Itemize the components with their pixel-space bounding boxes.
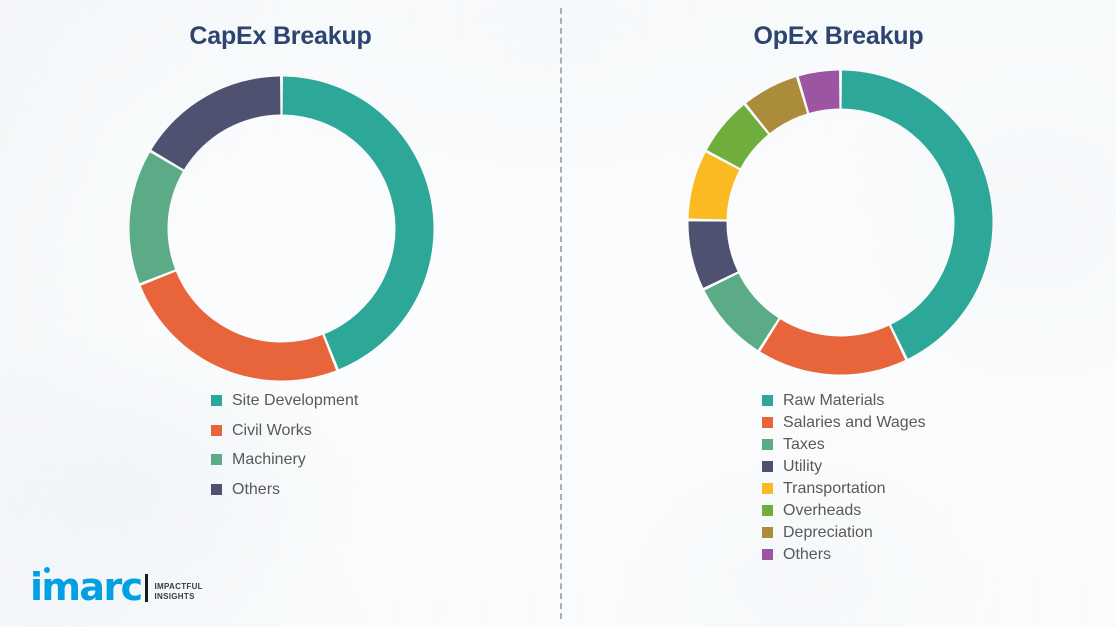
capex-slice-others[interactable]: [151, 77, 280, 170]
legend-item-label: Overheads: [783, 502, 861, 519]
legend-item-salaries-and-wages[interactable]: Salaries and Wages: [762, 414, 926, 431]
opex-panel: OpEx Breakup Raw Materials Salaries and …: [561, 0, 1116, 627]
legend-swatch-icon: [762, 527, 773, 538]
legend-item-civil-works[interactable]: Civil Works: [211, 422, 358, 439]
legend-item-others[interactable]: Others: [211, 481, 358, 498]
opex-slice-taxes[interactable]: [705, 274, 779, 351]
capex-title: CapEx Breakup: [0, 22, 561, 51]
legend-item-utility[interactable]: Utility: [762, 458, 926, 475]
slide-root: CapEx Breakup Site Development Civil Wor…: [0, 0, 1116, 627]
capex-donut-chart: [129, 76, 434, 381]
capex-slice-group: [130, 77, 434, 381]
logo-tagline-line1: IMPACTFUL: [155, 582, 203, 592]
capex-panel: CapEx Breakup Site Development Civil Wor…: [0, 0, 561, 627]
opex-slice-salaries-and-wages[interactable]: [760, 319, 905, 374]
capex-slice-site-development[interactable]: [283, 77, 434, 370]
legend-item-label: Others: [232, 481, 280, 498]
legend-swatch-icon: [211, 484, 222, 495]
legend-item-label: Taxes: [783, 436, 825, 453]
legend-item-label: Civil Works: [232, 422, 312, 439]
legend-swatch-icon: [762, 549, 773, 560]
logo-divider-bar: [145, 574, 148, 602]
opex-slice-group: [689, 71, 993, 375]
legend-item-label: Machinery: [232, 451, 306, 468]
legend-swatch-icon: [762, 505, 773, 516]
legend-swatch-icon: [762, 395, 773, 406]
logo-wordmark: imarc: [30, 569, 142, 605]
legend-item-overheads[interactable]: Overheads: [762, 502, 926, 519]
legend-item-depreciation[interactable]: Depreciation: [762, 524, 926, 541]
legend-item-label: Others: [783, 546, 831, 563]
legend-swatch-icon: [211, 454, 222, 465]
panel-divider: [560, 8, 562, 619]
legend-swatch-icon: [762, 417, 773, 428]
legend-item-others[interactable]: Others: [762, 546, 926, 563]
logo-tagline-line2: INSIGHTS: [155, 592, 203, 602]
capex-slice-machinery[interactable]: [130, 152, 183, 283]
legend-item-label: Site Development: [232, 392, 358, 409]
capex-donut-svg: [129, 76, 434, 381]
legend-item-label: Raw Materials: [783, 392, 884, 409]
legend-item-site-development[interactable]: Site Development: [211, 392, 358, 409]
legend-swatch-icon: [762, 439, 773, 450]
capex-slice-civil-works[interactable]: [141, 271, 336, 380]
legend-swatch-icon: [211, 395, 222, 406]
legend-swatch-icon: [762, 483, 773, 494]
legend-item-label: Transportation: [783, 480, 886, 497]
legend-item-machinery[interactable]: Machinery: [211, 451, 358, 468]
opex-slice-raw-materials[interactable]: [842, 71, 993, 359]
legend-item-transportation[interactable]: Transportation: [762, 480, 926, 497]
capex-legend: Site Development Civil Works Machinery O…: [211, 392, 358, 510]
legend-item-raw-materials[interactable]: Raw Materials: [762, 392, 926, 409]
opex-title: OpEx Breakup: [561, 22, 1116, 51]
opex-donut-svg: [688, 70, 993, 375]
legend-item-label: Salaries and Wages: [783, 414, 926, 431]
imarc-logo: imarc IMPACTFUL INSIGHTS: [30, 569, 203, 605]
legend-item-label: Depreciation: [783, 524, 873, 541]
legend-swatch-icon: [211, 425, 222, 436]
opex-donut-chart: [688, 70, 993, 375]
logo-tagline: IMPACTFUL INSIGHTS: [155, 582, 203, 605]
legend-swatch-icon: [762, 461, 773, 472]
legend-item-label: Utility: [783, 458, 822, 475]
logo-dot-icon: [44, 567, 50, 573]
legend-item-taxes[interactable]: Taxes: [762, 436, 926, 453]
opex-legend: Raw Materials Salaries and Wages Taxes U…: [762, 392, 926, 568]
